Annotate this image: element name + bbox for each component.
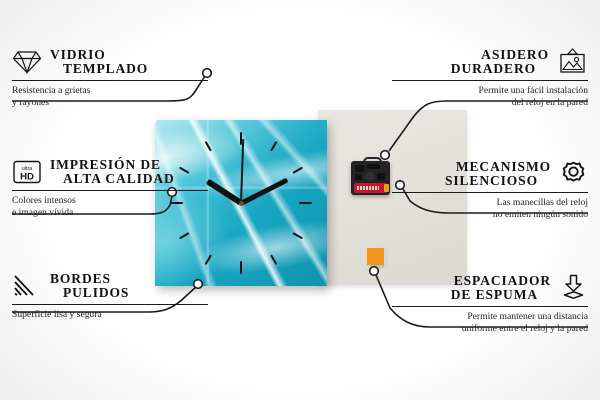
clock-tick <box>299 202 312 204</box>
feature-title-line1: ASIDERO <box>481 48 549 62</box>
feature-divider <box>12 80 208 82</box>
feature-espaciador-de-espuma: ESPACIADOR DE ESPUMA Permite mantener un… <box>392 274 588 336</box>
clock-minute-hand <box>240 177 289 205</box>
feature-mecanismo-silencioso: MECANISMO SILENCIOSO Las manecillas del … <box>392 160 588 222</box>
feature-title-line1: VIDRIO <box>50 48 106 62</box>
clock-tick <box>205 254 212 265</box>
clock-tick <box>240 261 242 274</box>
feature-title-line2: PULIDOS <box>50 286 129 300</box>
clock-center-pin <box>239 201 244 206</box>
clock-mechanism <box>351 157 390 195</box>
clock-tick <box>270 141 277 152</box>
feature-divider <box>12 190 208 192</box>
infographic-canvas: VIDRIO TEMPLADO Resistencia a grietasy r… <box>0 0 600 400</box>
feature-title-line1: ESPACIADOR <box>454 274 551 288</box>
feature-title-line2: SILENCIOSO <box>445 174 551 188</box>
battery-label <box>357 186 379 190</box>
feature-title-line1: BORDES <box>50 272 111 286</box>
feature-asidero-duradero: ASIDERO DURADERO Permite una fácil insta… <box>392 48 588 110</box>
mechanism-knob <box>355 174 362 180</box>
mechanism-body <box>351 161 390 195</box>
mechanism-knob <box>355 165 364 172</box>
polished-edges-icon <box>12 273 42 299</box>
feature-vidrio-templado: VIDRIO TEMPLADO Resistencia a grietasy r… <box>12 48 208 110</box>
feature-description: Permite una fácil instalacióndel reloj e… <box>392 85 588 110</box>
clock-hour-hand <box>206 179 243 206</box>
mechanism-knob <box>365 172 374 181</box>
gear-icon <box>559 160 588 187</box>
feature-description: Las manecillas del relojno emiten ningún… <box>392 197 588 222</box>
svg-text:HD: HD <box>20 171 34 182</box>
mechanism-battery <box>354 183 387 193</box>
feature-title-line1: MECANISMO <box>456 160 551 174</box>
clock-tick <box>270 254 277 265</box>
feature-description: Colores intensose imagen vívida <box>12 195 208 220</box>
mechanism-knob <box>367 164 380 169</box>
feature-bordes-pulidos: BORDES PULIDOS Superficie lisa y segura <box>12 272 208 321</box>
feature-divider <box>12 304 208 306</box>
clock-tick <box>292 232 303 239</box>
clock-tick <box>179 232 190 239</box>
battery-terminal <box>384 184 389 192</box>
mechanism-knob <box>377 173 385 180</box>
feature-impresion-alta-calidad: ultra HD IMPRESIÓN DE ALTA CALIDAD Color… <box>12 158 208 220</box>
feature-description: Resistencia a grietasy rayones <box>12 85 208 110</box>
feature-title-line2: TEMPLADO <box>50 62 148 76</box>
foam-spacer <box>367 248 384 265</box>
feature-description: Permite mantener una distanciauniforme e… <box>392 311 588 336</box>
feature-title-line2: DURADERO <box>451 62 549 76</box>
diamond-icon <box>12 49 42 75</box>
clock-second-hand <box>240 139 244 205</box>
feature-divider <box>392 192 588 194</box>
clock-tick <box>292 167 303 174</box>
feature-divider <box>392 80 588 82</box>
feature-title-line2: ALTA CALIDAD <box>50 172 175 186</box>
feature-description: Superficie lisa y segura <box>12 309 208 321</box>
hanging-picture-frame-icon <box>557 48 588 75</box>
feature-title-line1: IMPRESIÓN DE <box>50 158 161 172</box>
ultra-hd-badge-icon: ultra HD <box>12 159 42 185</box>
feature-title-line2: DE ESPUMA <box>451 288 551 302</box>
feature-divider <box>392 306 588 308</box>
arrow-down-to-pad-icon <box>559 274 588 301</box>
clock-tick <box>205 141 212 152</box>
